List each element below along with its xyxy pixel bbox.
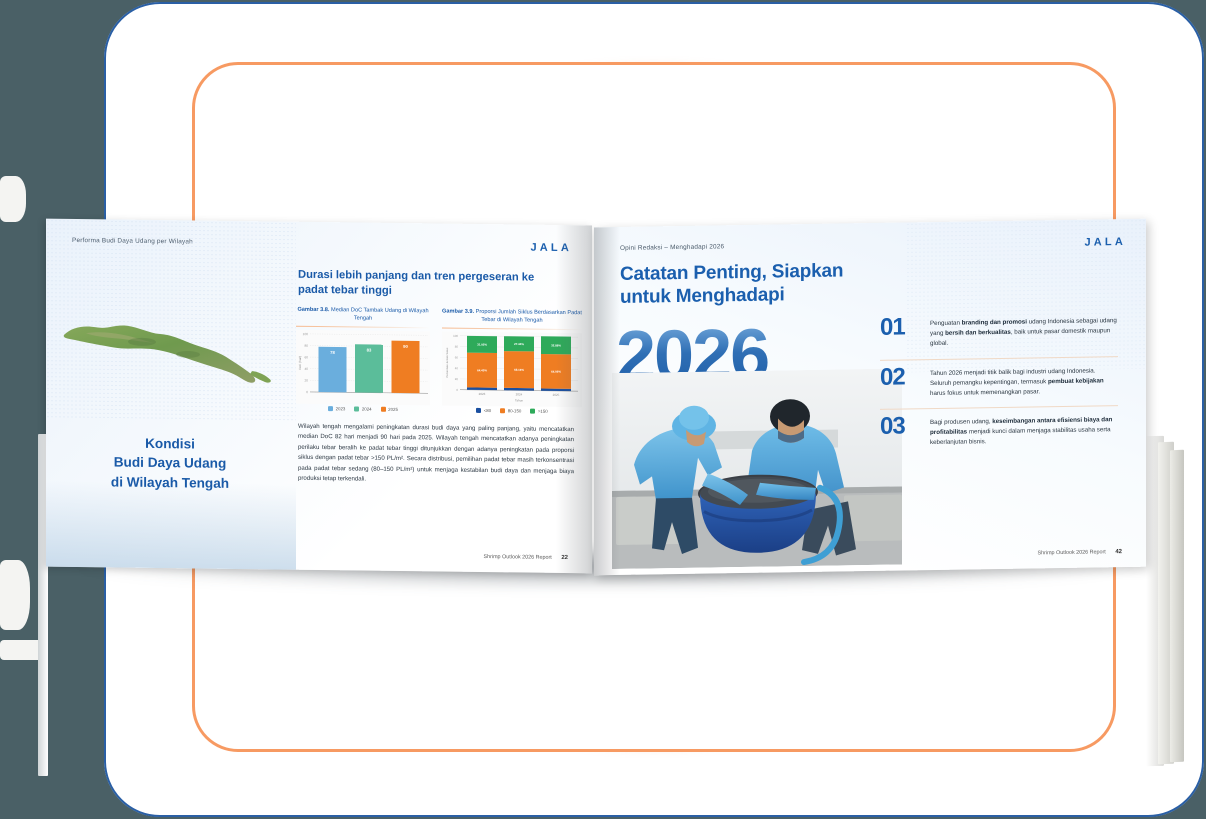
page-number: 42 [1115, 549, 1122, 555]
svg-text:0: 0 [306, 390, 308, 394]
key-notes-list: 01 Penguatan branding dan promosi udang … [880, 307, 1118, 458]
figure-3-8: Gambar 3.8. Median DoC Tambak Udang di W… [296, 306, 430, 413]
list-item: 01 Penguatan branding dan promosi udang … [880, 307, 1118, 359]
figure-3-8-label: Gambar 3.8. [297, 307, 329, 313]
left-page-body-text: Wilayah tengah mengalami peningkatan dur… [298, 422, 574, 488]
svg-text:DoC (hari): DoC (hari) [298, 356, 302, 370]
svg-text:2025: 2025 [553, 393, 560, 397]
shrimp-harvest-photo [612, 368, 902, 569]
svg-text:64.06%: 64.06% [551, 370, 561, 374]
jala-logo-right: JALA [1084, 236, 1126, 249]
chart-stacked-legend: <80 80-150 >150 [442, 408, 582, 415]
footer-text: Shrimp Outlook 2026 Report [483, 554, 551, 561]
svg-text:78: 78 [330, 350, 335, 355]
chart-median-doc-legend: 2023 2024 2025 [296, 406, 430, 413]
note-text: Bagi produsen udang, keseimbangan antara… [930, 413, 1118, 448]
svg-text:40: 40 [304, 367, 308, 371]
svg-text:32.88%: 32.88% [551, 344, 561, 348]
hero-line-3: di Wilayah Tengah [52, 471, 288, 493]
figure-3-8-caption-text: Median DoC Tambak Udang di Wilayah Tenga… [331, 307, 429, 322]
title-line-2: untuk Menghadapi [620, 281, 920, 309]
footer-text: Shrimp Outlook 2026 Report [1037, 549, 1105, 556]
right-page-title: Catatan Penting, Siapkan untuk Menghadap… [620, 258, 920, 309]
open-book: Performa Budi Daya Udang per Wilayah JAL… [18, 214, 1188, 584]
svg-text:64.45%: 64.45% [477, 369, 487, 373]
figure-3-9-label: Gambar 3.9. [442, 309, 474, 315]
left-page-hero-title: Kondisi Budi Daya Udang di Wilayah Tenga… [52, 433, 288, 494]
svg-text:60: 60 [304, 356, 308, 360]
figure-3-9-caption: Gambar 3.9. Proporsi Jumlah Siklus Berda… [442, 308, 582, 326]
chart-stocking-density-proportion: 020406080100Persentase Jumlah Siklus64.4… [442, 332, 582, 408]
svg-text:68.16%: 68.16% [514, 368, 524, 372]
figure-3-8-caption: Gambar 3.8. Median DoC Tambak Udang di W… [296, 306, 430, 324]
chart-median-doc: 020406080100DoC (hari)788390 [296, 330, 430, 406]
page-number: 22 [561, 555, 568, 561]
jala-logo-left: JALA [530, 242, 572, 255]
figure-3-9-caption-text: Proporsi Jumlah Siklus Berdasarkan Padat… [476, 309, 582, 324]
svg-text:40: 40 [455, 367, 459, 371]
svg-text:31.05%: 31.05% [477, 343, 487, 347]
svg-text:Persentase Jumlah Siklus: Persentase Jumlah Siklus [445, 347, 449, 378]
section-heading: Durasi lebih panjang dan tren pergeseran… [298, 268, 558, 301]
book-right-page: Opini Redaksi – Menghadapi 2026 JALA Cat… [594, 219, 1146, 576]
figure-3-9: Gambar 3.9. Proporsi Jumlah Siklus Berda… [442, 308, 582, 415]
legend-item: <80 [476, 408, 491, 413]
note-number: 02 [880, 367, 920, 400]
svg-text:83: 83 [367, 348, 372, 353]
note-text: Tahun 2026 menjadi titik balik bagi indu… [930, 364, 1118, 399]
legend-item: 2025 [381, 407, 398, 412]
svg-text:80: 80 [304, 344, 308, 348]
legend-item: 2024 [354, 407, 371, 412]
left-page-footer: Shrimp Outlook 2026 Report 22 [483, 554, 568, 561]
svg-text:20: 20 [455, 377, 459, 381]
figure-caption-rule [296, 326, 430, 329]
figure-caption-rule [442, 327, 582, 330]
svg-text:20: 20 [304, 379, 308, 383]
svg-text:60: 60 [455, 356, 459, 360]
svg-text:80: 80 [455, 345, 459, 349]
java-island-map [56, 277, 286, 400]
svg-text:100: 100 [303, 332, 309, 336]
list-item: 02 Tahun 2026 menjadi titik balik bagi i… [880, 356, 1118, 409]
left-page-photo-haze [46, 481, 296, 570]
legend-item: >150 [530, 409, 547, 414]
book-page-edge [1170, 450, 1184, 762]
legend-item: 80-150 [500, 408, 521, 413]
svg-text:2023: 2023 [479, 392, 486, 396]
list-item: 03 Bagi produsen udang, keseimbangan ant… [880, 405, 1118, 458]
note-text: Penguatan branding dan promosi udang Ind… [930, 314, 1118, 349]
svg-text:Tahun: Tahun [515, 399, 523, 403]
svg-text:2024: 2024 [516, 393, 523, 397]
svg-text:27.44%: 27.44% [514, 342, 524, 346]
svg-text:90: 90 [403, 344, 408, 349]
note-number: 03 [880, 416, 920, 449]
svg-text:0: 0 [456, 388, 458, 392]
note-number: 01 [880, 317, 920, 350]
book-left-page: Performa Budi Daya Udang per Wilayah JAL… [46, 219, 592, 574]
right-page-footer: Shrimp Outlook 2026 Report 42 [1037, 549, 1122, 556]
legend-item: 2023 [328, 406, 345, 411]
svg-text:100: 100 [453, 334, 458, 338]
